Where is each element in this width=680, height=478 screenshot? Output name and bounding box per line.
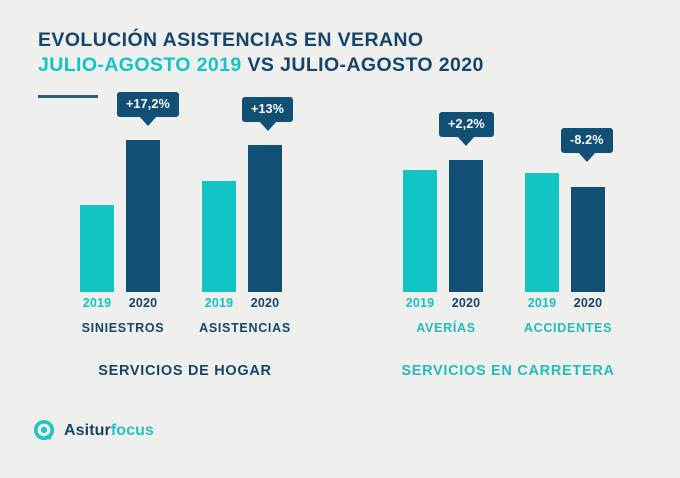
year-axis: 2019 2020 xyxy=(513,296,623,314)
bar-group-container-road: +2,2% 2019 2020 AVERÍAS -8.2% 2019 2020 xyxy=(383,140,633,345)
year-axis: 2019 2020 xyxy=(391,296,501,314)
year-label-2020: 2020 xyxy=(565,296,611,310)
bar-2019[interactable] xyxy=(525,173,559,292)
delta-badge: +2,2% xyxy=(439,112,494,137)
section-title-road: SERVICIOS EN CARRETERA xyxy=(383,363,633,379)
bar-2020[interactable] xyxy=(248,145,282,292)
chart-section-road: +2,2% 2019 2020 AVERÍAS -8.2% 2019 2020 xyxy=(383,140,633,345)
bar-group-asistencias: +13% 2019 2020 ASISTENCIAS xyxy=(190,140,300,345)
year-label-2019: 2019 xyxy=(198,296,240,310)
bar-2020[interactable] xyxy=(449,160,483,292)
category-label: ASISTENCIAS xyxy=(182,321,308,335)
bar-group-container-home: +17,2% 2019 2020 SINIESTROS +13% 2019 20… xyxy=(60,140,310,345)
year-label-2020: 2020 xyxy=(242,296,288,310)
plot-area: +17,2% xyxy=(68,140,178,292)
section-title-home: SERVICIOS DE HOGAR xyxy=(60,363,310,379)
category-label: ACCIDENTES xyxy=(505,321,631,335)
brand-name-secondary: focus xyxy=(111,422,154,439)
year-label-2020: 2020 xyxy=(443,296,489,310)
plot-area: +13% xyxy=(190,140,300,292)
year-axis: 2019 2020 xyxy=(190,296,300,314)
delta-badge: +17,2% xyxy=(117,92,179,117)
plot-area: +2,2% xyxy=(391,140,501,292)
bar-2020[interactable] xyxy=(126,140,160,292)
bar-2020[interactable] xyxy=(571,187,605,292)
year-label-2019: 2019 xyxy=(521,296,563,310)
delta-badge: +13% xyxy=(242,97,293,122)
year-label-2019: 2019 xyxy=(399,296,441,310)
year-axis: 2019 2020 xyxy=(68,296,178,314)
plot-area: -8.2% xyxy=(513,140,623,292)
bar-2019[interactable] xyxy=(202,181,236,292)
year-label-2019: 2019 xyxy=(76,296,118,310)
bar-group-averias: +2,2% 2019 2020 AVERÍAS xyxy=(391,140,501,345)
brand-name: Asiturfocus xyxy=(64,422,154,440)
delta-badge: -8.2% xyxy=(561,128,613,153)
year-label-2020: 2020 xyxy=(120,296,166,310)
bar-chart: +17,2% 2019 2020 SINIESTROS +13% 2019 20… xyxy=(0,0,680,478)
brand-logo: Asiturfocus xyxy=(34,420,154,442)
magnifier-q-icon xyxy=(34,420,56,442)
brand-name-primary: Asitur xyxy=(64,422,111,439)
bar-group-accidentes: -8.2% 2019 2020 ACCIDENTES xyxy=(513,140,623,345)
bar-group-siniestros: +17,2% 2019 2020 SINIESTROS xyxy=(68,140,178,345)
category-label: AVERÍAS xyxy=(383,321,509,335)
category-label: SINIESTROS xyxy=(60,321,186,335)
bar-2019[interactable] xyxy=(403,170,437,292)
chart-section-home: +17,2% 2019 2020 SINIESTROS +13% 2019 20… xyxy=(60,140,310,345)
bar-2019[interactable] xyxy=(80,205,114,292)
